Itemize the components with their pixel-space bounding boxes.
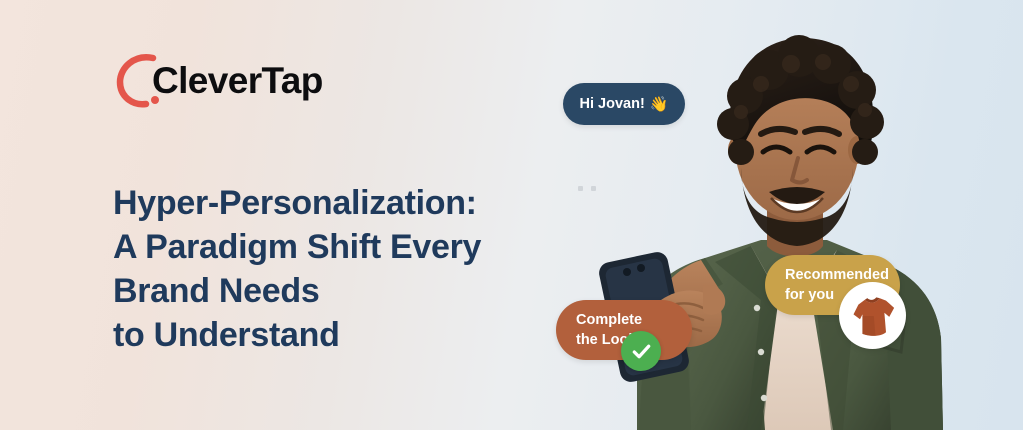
check-icon	[630, 340, 653, 363]
greeting-pill[interactable]: Hi Jovan! 👋	[563, 83, 685, 125]
page-title: Hyper-Personalization: A Paradigm Shift …	[113, 181, 481, 357]
tshirt-icon	[847, 290, 899, 342]
waving-hand-icon: 👋	[650, 97, 669, 112]
greeting-pill-label: Hi Jovan!	[580, 96, 645, 112]
green-check-badge[interactable]	[621, 331, 661, 371]
logo-wordmark: CleverTap	[152, 62, 323, 99]
clevertap-logo[interactable]: CleverTap	[112, 48, 323, 112]
product-thumbnail-badge[interactable]	[839, 282, 906, 349]
banner-root: CleverTap Hyper-Personalization: A Parad…	[0, 0, 1023, 430]
clevertap-arc-icon	[112, 48, 168, 112]
